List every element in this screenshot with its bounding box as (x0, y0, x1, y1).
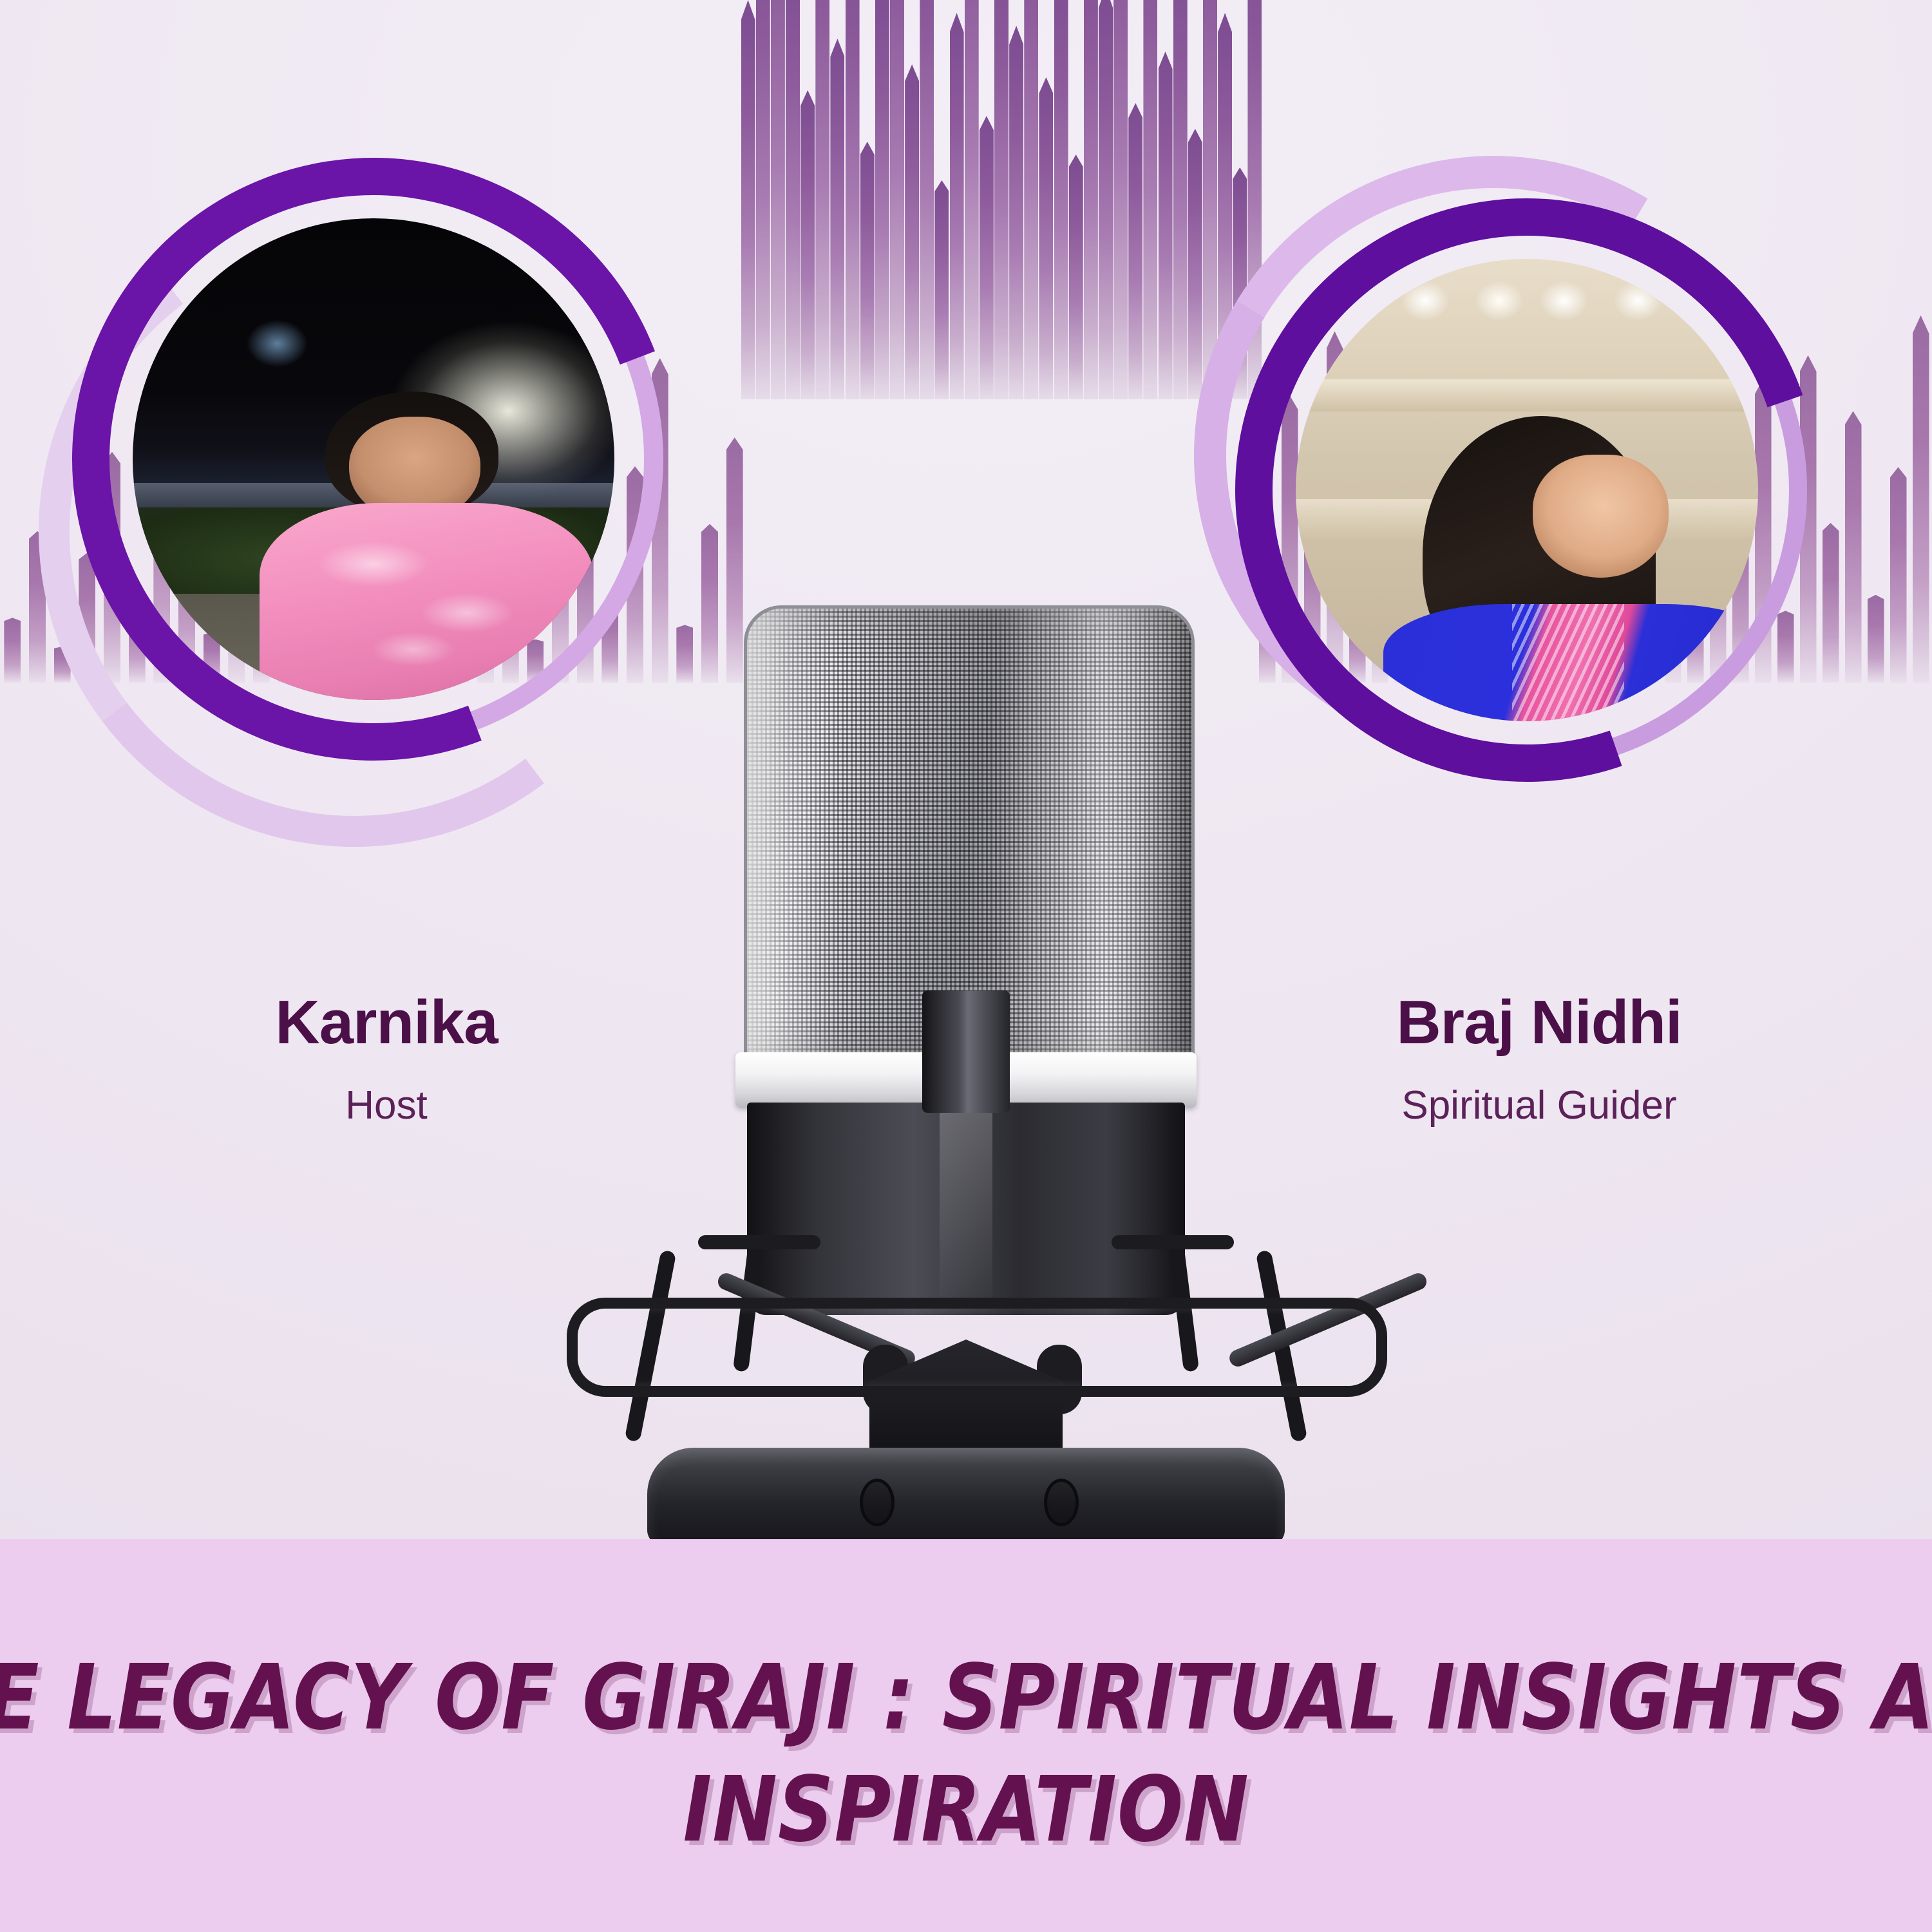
waveform-bar (1890, 467, 1907, 683)
waveform-bar (1113, 0, 1128, 399)
episode-title-banner: THE LEGACY OF GIRAJI : SPIRITUAL INSIGHT… (0, 1539, 1932, 1932)
waveform-bar (756, 0, 770, 399)
podcast-promo-poster: Karnika Host Braj Nidhi Spiritual Guider… (0, 0, 1932, 1932)
episode-title-container: THE LEGACY OF GIRAJI : SPIRITUAL INSIGHT… (0, 1539, 1932, 1932)
photo-lamps (1296, 273, 1758, 328)
waveform-bar (1084, 0, 1098, 399)
episode-title-line-1: THE LEGACY OF GIRAJI : SPIRITUAL INSIGHT… (0, 1653, 1932, 1743)
waveform-bar (905, 64, 919, 399)
avatar-photo-braj-nidhi (1296, 259, 1758, 721)
mic-body (747, 1103, 1185, 1315)
waveform-bar (980, 116, 994, 399)
waveform-bar (741, 0, 755, 399)
guest-name-block-braj-nidhi: Braj Nidhi Spiritual Guider (1211, 992, 1868, 1126)
guest-role: Host (155, 1086, 618, 1126)
photo-face (1533, 455, 1669, 578)
mic-base-screw-left (860, 1479, 895, 1526)
waveform-bar (965, 0, 979, 399)
waveform-bar (815, 0, 829, 399)
waveform-bar (950, 13, 964, 399)
mic-stem (922, 990, 1010, 1113)
waveform-bar (934, 180, 949, 399)
waveform-bar (920, 0, 934, 399)
waveform-bar (800, 90, 815, 399)
waveform-bar (4, 618, 21, 683)
photo-ledge-upper (1296, 379, 1758, 412)
waveform-bar (786, 0, 800, 399)
waveform-bar (1128, 103, 1142, 399)
photo-person (1416, 416, 1740, 721)
shock-mount-ring (567, 1298, 1387, 1397)
waveform-bar (830, 39, 844, 399)
waveform-bar (1173, 0, 1188, 399)
waveform-bar (890, 0, 904, 399)
shock-mount-hook-right (1112, 1235, 1234, 1249)
guest-name: Karnika (155, 992, 618, 1054)
waveform-bar (1159, 52, 1173, 399)
waveform-bar (1039, 77, 1053, 399)
waveform-bar (1024, 0, 1038, 399)
waveform-bar (1009, 26, 1023, 399)
photo-person (277, 392, 576, 700)
waveform-bar (1203, 0, 1217, 399)
waveform-bar (875, 0, 889, 399)
waveform-bar (994, 0, 1009, 399)
avatar-photo-karnika (133, 218, 614, 700)
waveform-bar (860, 142, 875, 399)
waveform-bar (1913, 316, 1929, 683)
waveform-bar (1143, 0, 1157, 399)
photo-saree (1383, 604, 1758, 721)
waveform-bar (1069, 155, 1083, 399)
guest-avatar-karnika (58, 138, 715, 795)
waveform-bar (1188, 129, 1202, 399)
waveform-bar (1099, 0, 1113, 399)
guest-avatar-braj-nidhi (1224, 187, 1855, 818)
episode-title-line-2: INSPIRATION (683, 1765, 1249, 1855)
shock-mount-hook-left (698, 1235, 820, 1249)
mic-base-screw-right (1044, 1479, 1079, 1526)
guest-role: Spiritual Guider (1211, 1086, 1868, 1126)
mic-base (647, 1448, 1285, 1546)
photo-kurta (260, 503, 594, 700)
waveform-bar (846, 0, 860, 399)
waveform-bar (1868, 595, 1884, 683)
waveform-bar (771, 0, 785, 399)
waveform-bar (1054, 0, 1068, 399)
guest-name: Braj Nidhi (1211, 992, 1868, 1054)
guest-name-block-karnika: Karnika Host (155, 992, 618, 1126)
